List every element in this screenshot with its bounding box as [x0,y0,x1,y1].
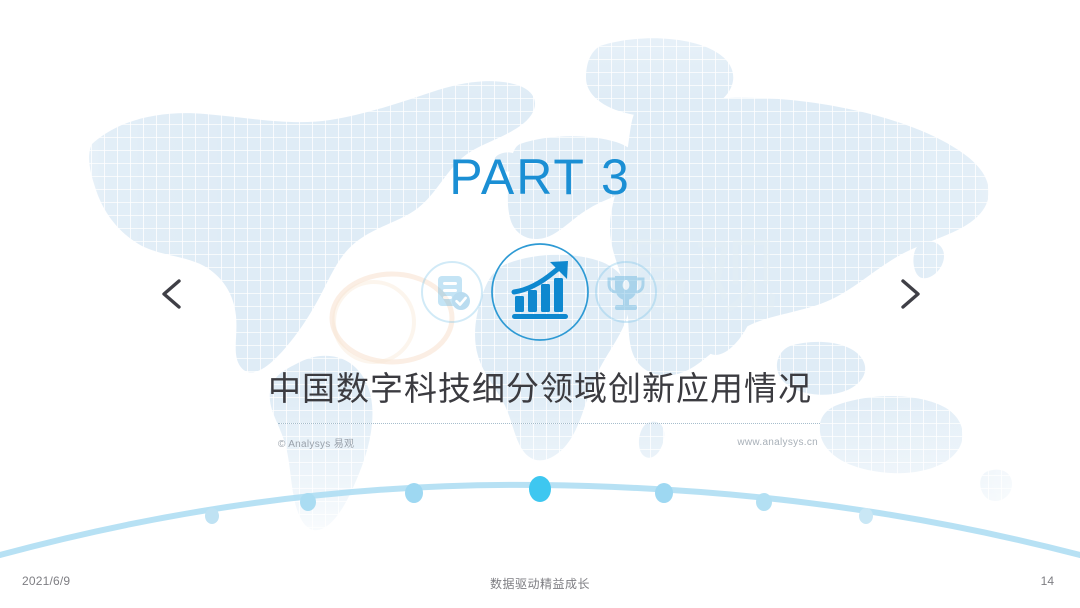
page-title: 中国数字科技细分领域创新应用情况 [0,370,1080,408]
progress-dot[interactable] [405,483,423,503]
footer-page-number: 14 [1041,574,1054,588]
part-label: PART 3 [0,152,1080,202]
progress-dot[interactable] [655,483,673,503]
progress-dot[interactable] [205,508,219,524]
progress-arc [0,455,1080,565]
bar-chart-growth-icon [488,240,592,344]
progress-dot[interactable] [756,493,772,511]
icon-cluster [0,240,1080,360]
trophy-icon [588,254,664,330]
progress-dot-active[interactable] [529,476,551,502]
divider [278,423,820,425]
slide-root: 易观 PART 3 [0,0,1080,608]
website-label: www.analysys.cn [0,437,818,448]
footer: 2021/6/9 数据驱动精益成长 14 [0,562,1080,608]
document-check-icon [414,254,490,330]
progress-dot[interactable] [300,493,316,511]
footer-slogan: 数据驱动精益成长 [0,575,1080,592]
progress-dot[interactable] [859,508,873,524]
